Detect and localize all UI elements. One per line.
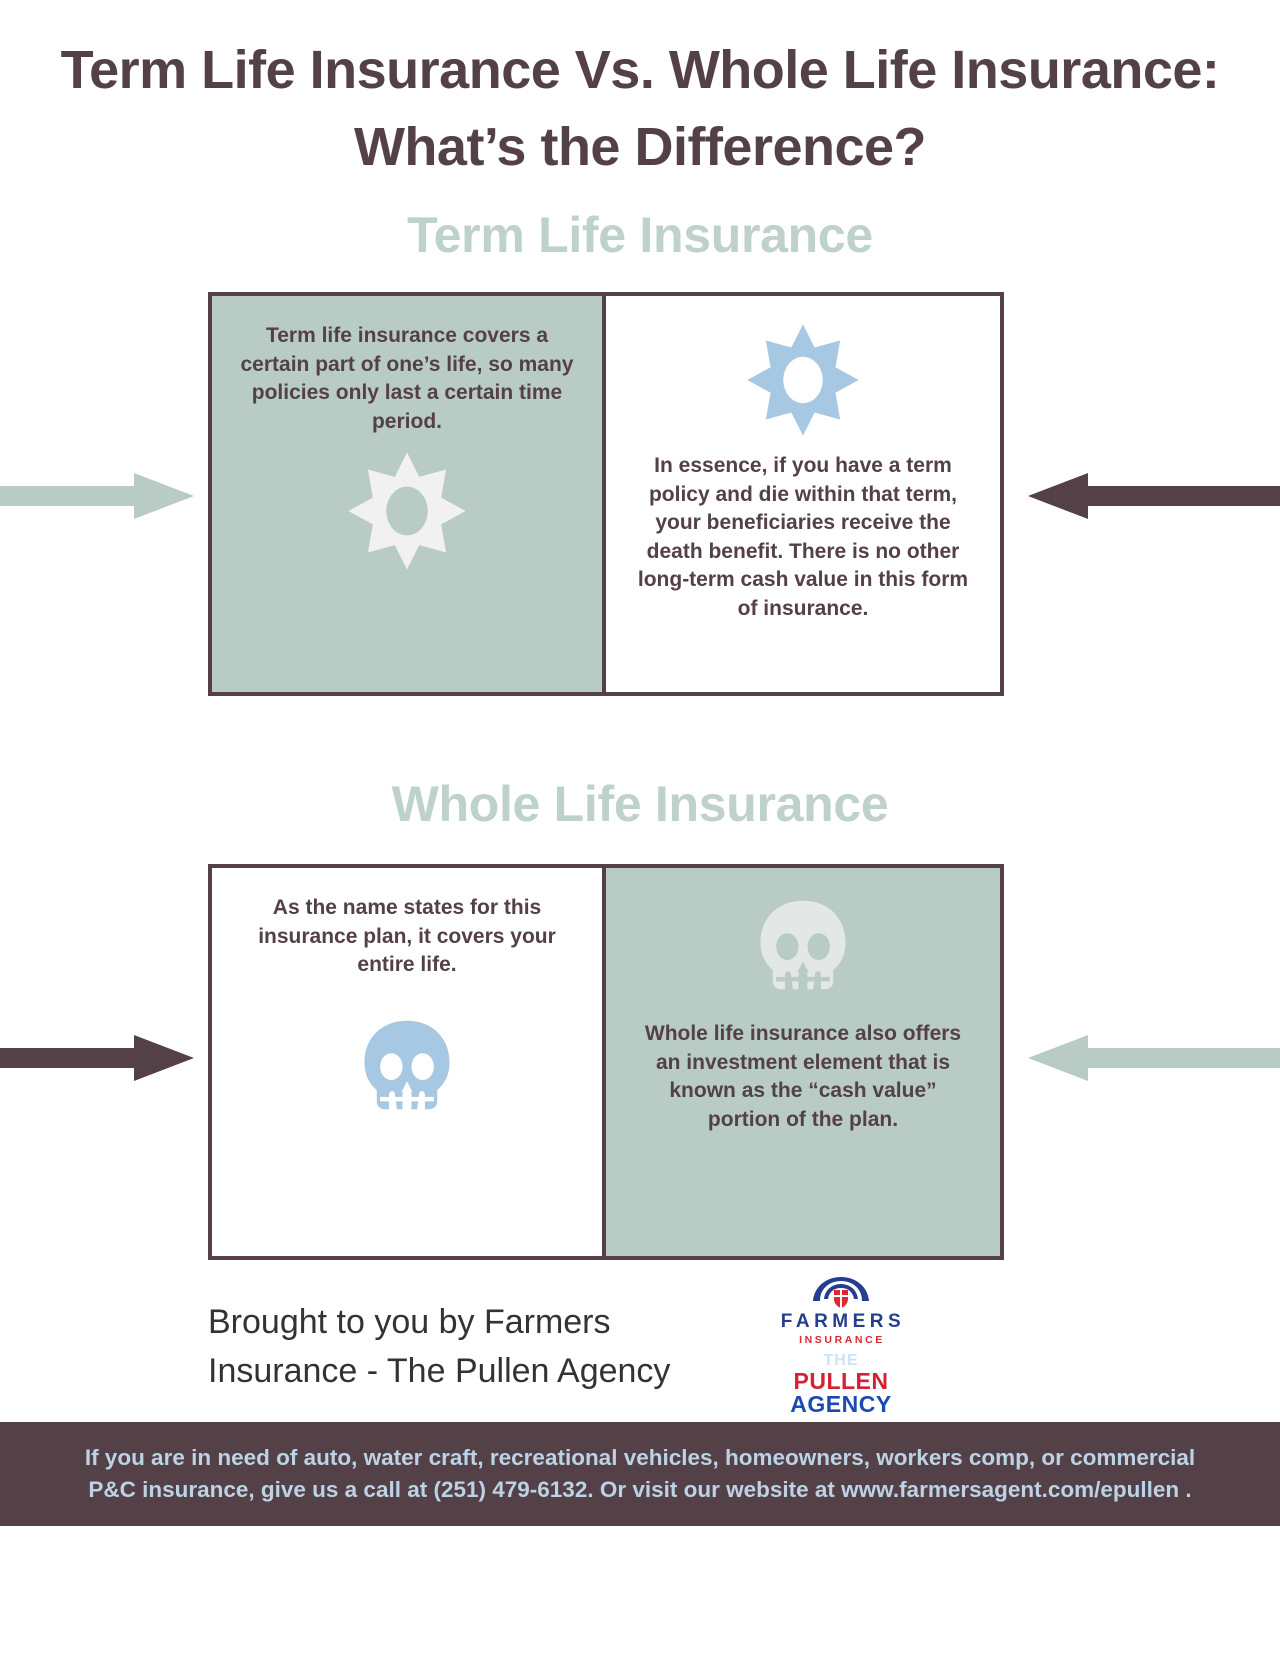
term-left-icon-wrap xyxy=(212,450,602,572)
whole-left-panel-text: As the name states for this insurance pl… xyxy=(212,894,602,980)
whole-right-panel-text: Whole life insurance also offers an inve… xyxy=(606,1020,1000,1134)
arrow-whole-left-icon xyxy=(0,1035,194,1081)
page-title: Term Life Insurance Vs. Whole Life Insur… xyxy=(60,32,1220,185)
skull-icon xyxy=(351,1014,463,1126)
section-heading-term-life: Term Life Insurance xyxy=(60,206,1220,264)
term-left-panel: Term life insurance covers a certain par… xyxy=(212,296,606,692)
term-right-icon-wrap xyxy=(606,322,1000,438)
farmers-pullen-logo: FARMERS INSURANCE THE PULLEN AGENCY xyxy=(770,1272,912,1417)
whole-left-icon-wrap xyxy=(212,1014,602,1126)
logo-insurance-text: INSURANCE xyxy=(797,1334,885,1346)
logo-agency-text: AGENCY xyxy=(790,1393,891,1416)
term-right-panel-text: In essence, if you have a term policy an… xyxy=(606,452,1000,623)
term-left-panel-text: Term life insurance covers a certain par… xyxy=(212,322,602,436)
term-life-comparison-box: Term life insurance covers a certain par… xyxy=(208,292,1004,696)
term-right-panel: In essence, if you have a term policy an… xyxy=(606,296,1000,692)
whole-right-panel: Whole life insurance also offers an inve… xyxy=(606,868,1000,1256)
skull-icon xyxy=(747,894,859,1006)
footer-contact-text: If you are in need of auto, water craft,… xyxy=(60,1442,1220,1506)
logo-pullen-text: PULLEN xyxy=(794,1370,889,1393)
section-heading-whole-life: Whole Life Insurance xyxy=(60,775,1220,833)
whole-left-panel: As the name states for this insurance pl… xyxy=(212,868,606,1256)
sun-burst-icon xyxy=(745,322,861,438)
arrow-whole-right-icon xyxy=(1028,1035,1280,1081)
infographic-page: Term Life Insurance Vs. Whole Life Insur… xyxy=(0,0,1280,1656)
arrow-term-left-icon xyxy=(0,473,194,519)
logo-farmers-text: FARMERS xyxy=(777,1311,905,1333)
arrow-term-right-icon xyxy=(1028,473,1280,519)
farmers-shield-icon xyxy=(810,1276,872,1310)
whole-right-icon-wrap xyxy=(606,894,1000,1006)
footer-bar: If you are in need of auto, water craft,… xyxy=(0,1422,1280,1526)
sun-burst-icon xyxy=(346,450,468,572)
credit-text: Brought to you by Farmers Insurance - Th… xyxy=(208,1282,768,1412)
whole-life-comparison-box: As the name states for this insurance pl… xyxy=(208,864,1004,1260)
